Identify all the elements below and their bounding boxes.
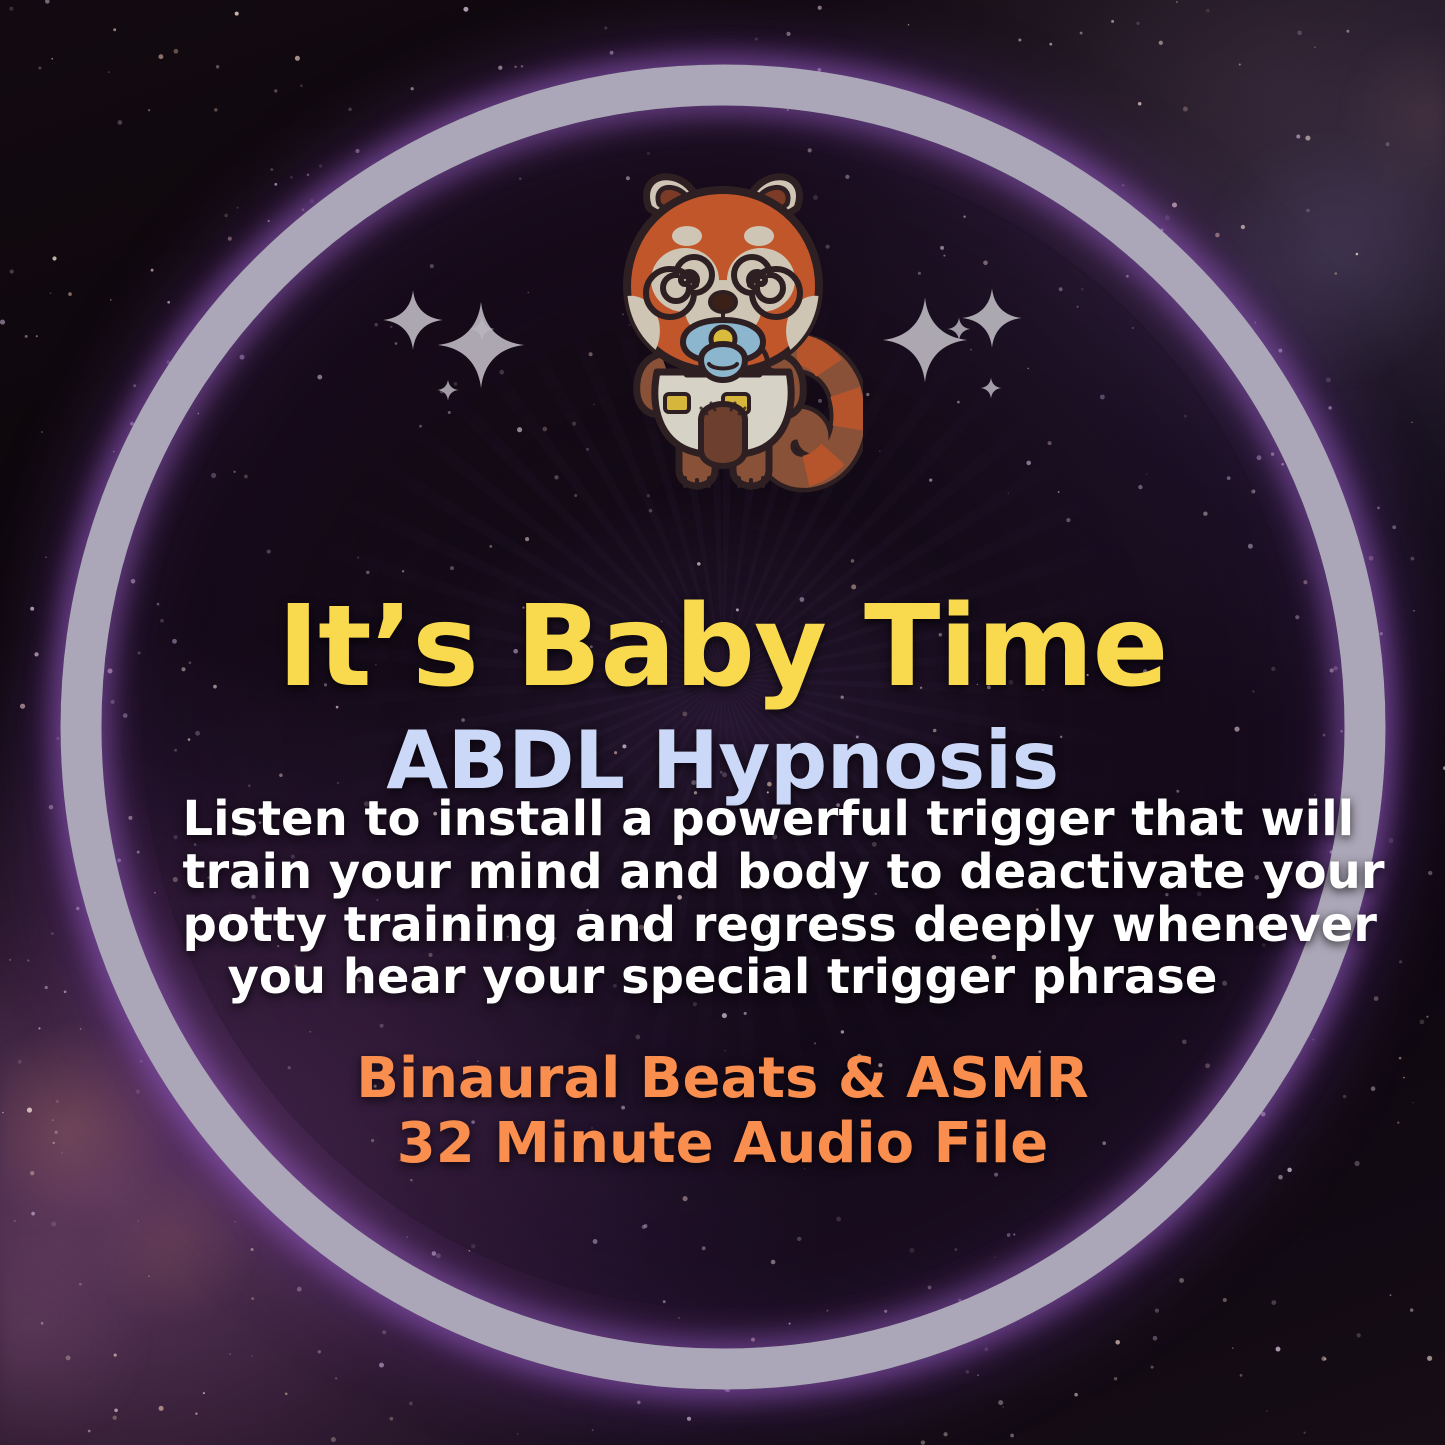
product-detail-line-1: Binaural Beats & ASMR xyxy=(0,1047,1445,1112)
description-text: Listen to install a powerful trigger tha… xyxy=(183,793,1263,1004)
description-line-1: Listen to install a powerful trigger tha… xyxy=(183,793,1263,846)
product-details-text: Binaural Beats & ASMR32 Minute Audio Fil… xyxy=(0,1047,1445,1177)
poster-text-content: It’s Baby Time ABDL Hypnosis Listen to i… xyxy=(0,0,1445,1445)
poster-canvas: It’s Baby Time ABDL Hypnosis Listen to i… xyxy=(0,0,1445,1445)
description-line-2: train your mind and body to deactivate y… xyxy=(183,846,1263,899)
description-line-3: potty training and regress deeply whenev… xyxy=(183,899,1263,952)
product-detail-line-2: 32 Minute Audio File xyxy=(0,1112,1445,1177)
description-line-4: you hear your special trigger phrase xyxy=(183,951,1263,1004)
page-title: It’s Baby Time xyxy=(0,591,1445,703)
page-subtitle: ABDL Hypnosis xyxy=(0,721,1445,801)
